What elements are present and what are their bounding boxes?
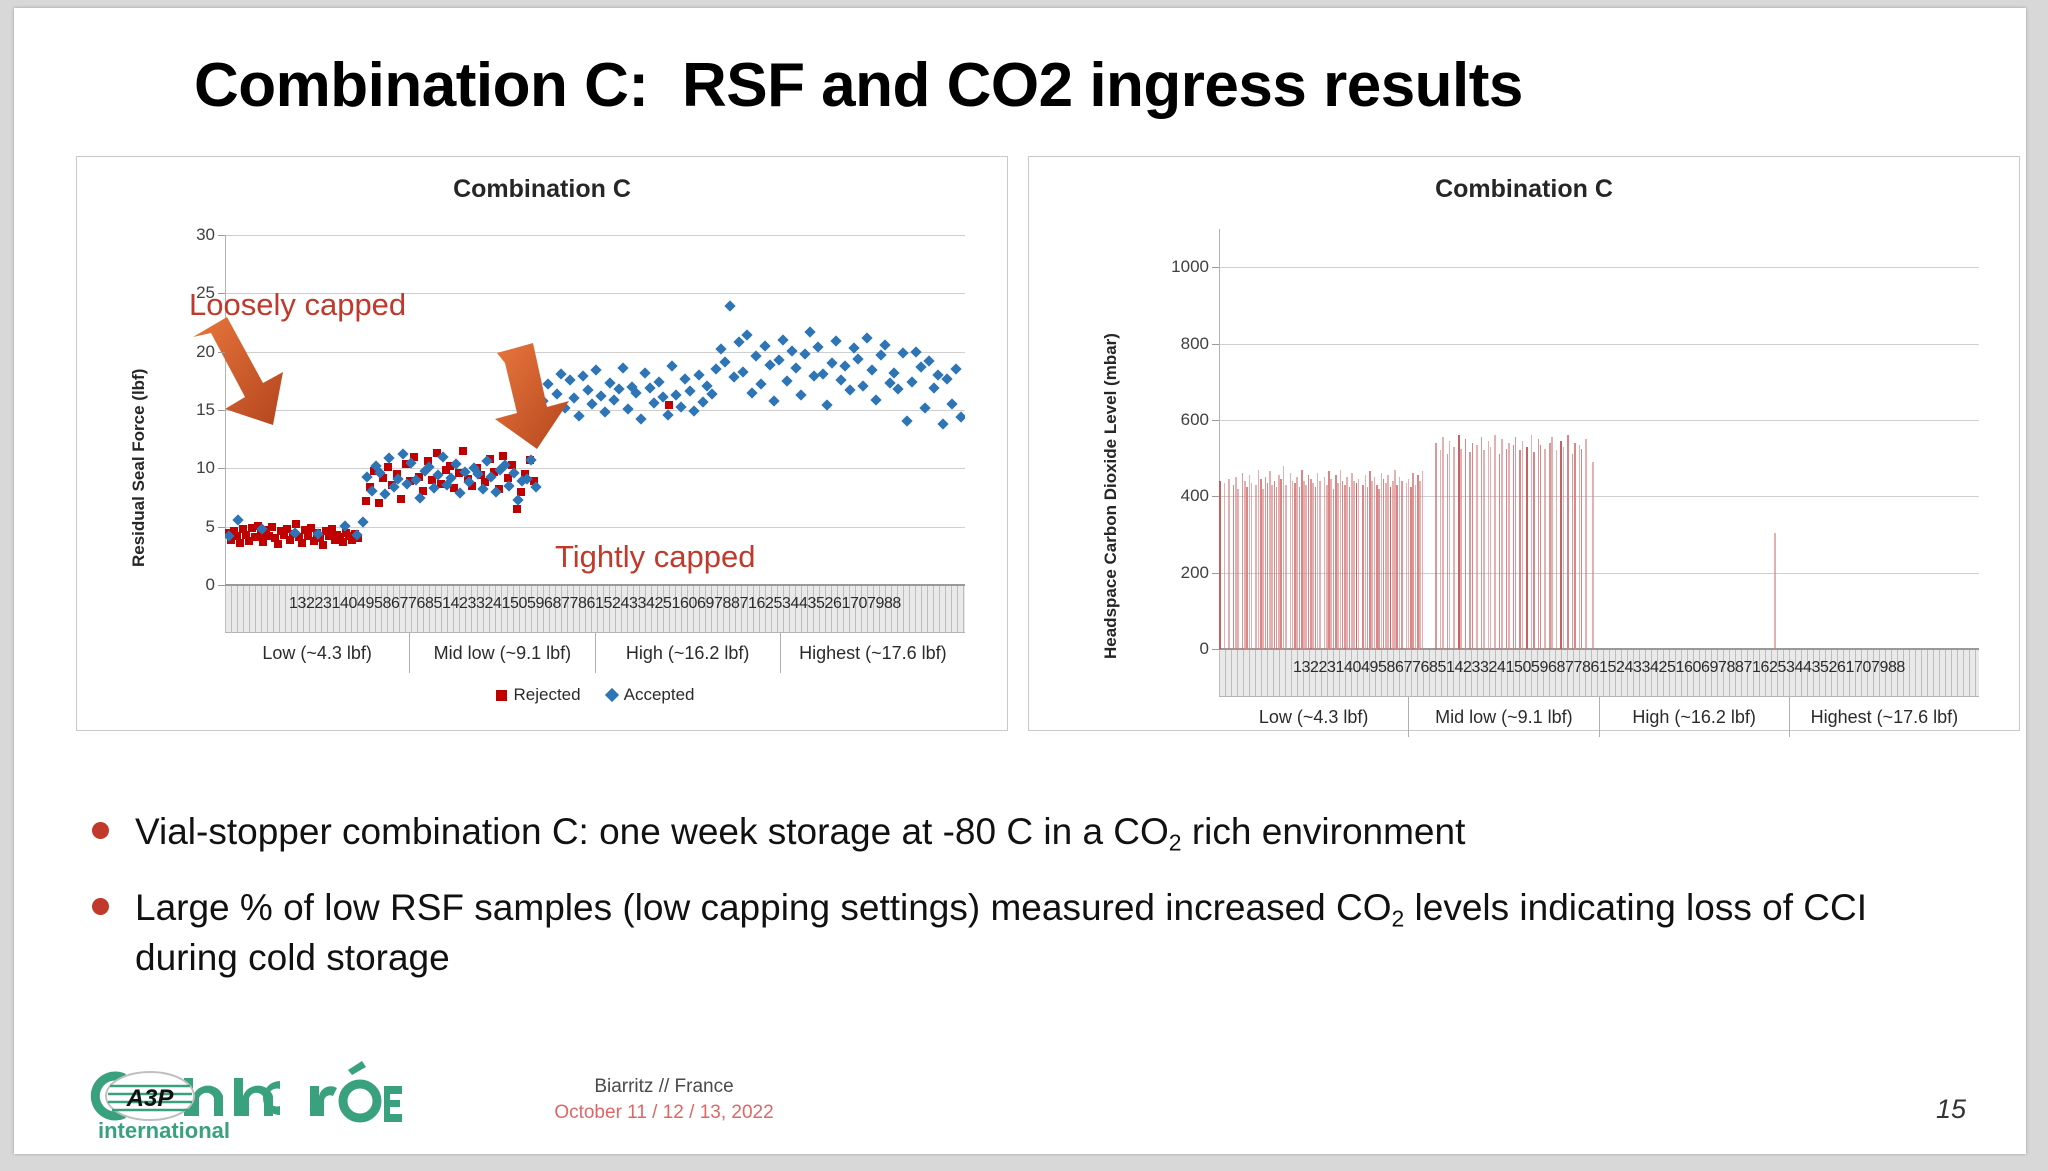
scatter-point-rejected (375, 499, 383, 507)
scatter-point-accepted (591, 365, 602, 376)
co2-bar (1285, 485, 1287, 649)
scatter-point-accepted (839, 360, 850, 371)
co2-plot-area (1219, 229, 1979, 649)
scatter-point-accepted (777, 334, 788, 345)
tightly-capped-annotation: Tightly capped (555, 539, 755, 575)
scatter-point-accepted (542, 379, 553, 390)
left-category-1: Low (~4.3 lbf) (225, 633, 410, 673)
right-ytick-mark (1212, 573, 1219, 574)
scatter-point-rejected (513, 505, 521, 513)
scatter-point-accepted (720, 356, 731, 367)
scatter-point-accepted (564, 374, 575, 385)
right-category-3: High (~16.2 lbf) (1600, 697, 1790, 737)
scatter-point-accepted (910, 346, 921, 357)
left-chart-ylabel: Residual Seal Force (lbf) (129, 369, 149, 567)
right-ytick-label: 1000 (1147, 257, 1209, 277)
scatter-point-accepted (397, 449, 408, 460)
scatter-point-accepted (871, 394, 882, 405)
scatter-point-accepted (569, 393, 580, 404)
co2-bar (1526, 447, 1528, 649)
scatter-point-accepted (715, 344, 726, 355)
bullet-list: Vial-stopper combination C: one week sto… (92, 808, 1922, 1009)
accepted-marker-icon (605, 688, 619, 702)
page-number: 15 (1936, 1094, 1966, 1125)
co2-bar (1581, 449, 1583, 649)
scatter-point-accepted (862, 332, 873, 343)
scatter-point-accepted (835, 374, 846, 385)
scatter-point-accepted (817, 368, 828, 379)
scatter-point-accepted (379, 488, 390, 499)
scatter-point-accepted (649, 397, 660, 408)
right-chart-title: Combination C (1029, 175, 2019, 204)
scatter-point-rejected (459, 447, 467, 455)
scatter-point-accepted (786, 345, 797, 356)
bullet-text: Large % of low RSF samples (low capping … (135, 884, 1922, 982)
co2-bar (1401, 481, 1403, 649)
right-ytick-mark (1212, 649, 1219, 650)
scatter-point-accepted (919, 402, 930, 413)
co2-bar (1453, 447, 1455, 649)
scatter-point-accepted (697, 396, 708, 407)
co2-bar (1567, 435, 1569, 649)
co2-bar (1319, 481, 1321, 649)
right-xaxis-categories: Low (~4.3 lbf)Mid low (~9.1 lbf)High (~1… (1219, 697, 1979, 737)
bullet-text: Vial-stopper combination C: one week sto… (135, 808, 1465, 858)
co2-bar (1544, 449, 1546, 649)
scatter-point-accepted (635, 414, 646, 425)
text-run: Vial-stopper combination C: one week sto… (135, 811, 1169, 852)
scatter-point-accepted (893, 383, 904, 394)
scatter-point-accepted (760, 340, 771, 351)
co2-bar (1442, 437, 1444, 649)
congres-international-logo: A3P international (66, 1056, 426, 1144)
right-ytick-mark (1212, 420, 1219, 421)
scatter-point-accepted (671, 389, 682, 400)
right-ytick-label: 600 (1147, 410, 1209, 430)
scatter-point-accepted (644, 382, 655, 393)
bullet-item-2: Large % of low RSF samples (low capping … (92, 884, 1922, 982)
subscript-text: 2 (1392, 906, 1405, 932)
co2-bar (1508, 443, 1510, 649)
scatter-point-rejected (665, 401, 673, 409)
scatter-point-accepted (866, 365, 877, 376)
scatter-point-accepted (684, 386, 695, 397)
scatter-point-accepted (233, 514, 244, 525)
scatter-point-rejected (362, 497, 370, 505)
co2-bar (1551, 437, 1553, 649)
scatter-point-accepted (560, 402, 571, 413)
right-xaxis-tick-numbers: 1322314049586776851423324150596877861524… (1219, 659, 1979, 677)
scatter-point-accepted (577, 370, 588, 381)
scatter-point-accepted (640, 367, 651, 378)
right-ytick-label: 400 (1147, 486, 1209, 506)
gridline (1219, 420, 1979, 421)
co2-bar (1435, 443, 1437, 649)
co2-bar (1533, 452, 1535, 649)
scatter-point-accepted (857, 380, 868, 391)
left-ytick-mark (218, 527, 225, 528)
scatter-point-accepted (937, 418, 948, 429)
co2-bar (1224, 483, 1226, 649)
co2-bar (1228, 479, 1230, 649)
co2-bar (1490, 447, 1492, 649)
left-xaxis-categories: Low (~4.3 lbf)Mid low (~9.1 lbf)High (~1… (225, 633, 965, 673)
legend-label: Accepted (624, 685, 695, 705)
left-chart-title: Combination C (77, 175, 1007, 204)
co2-bar (1219, 481, 1221, 649)
left-ytick-label: 30 (167, 225, 215, 245)
co2-bar (1515, 437, 1517, 649)
scatter-point-accepted (600, 407, 611, 418)
left-ytick-label: 15 (167, 400, 215, 420)
right-ytick-mark (1212, 496, 1219, 497)
right-category-1: Low (~4.3 lbf) (1219, 697, 1409, 737)
scatter-point-accepted (724, 300, 735, 311)
footer-date: October 11 / 12 / 13, 2022 (514, 1102, 814, 1124)
co2-bar (1585, 439, 1587, 649)
scatter-point-rejected (274, 540, 282, 548)
bullet-item-1: Vial-stopper combination C: one week sto… (92, 808, 1922, 858)
co2-bar (1449, 441, 1451, 649)
co2-bar (1422, 471, 1424, 649)
scatter-point-accepted (795, 389, 806, 400)
left-ytick-label: 5 (167, 517, 215, 537)
scatter-point-rejected (319, 541, 327, 549)
scatter-point-accepted (617, 362, 628, 373)
left-ytick-mark (218, 468, 225, 469)
left-ytick-mark (218, 293, 225, 294)
right-category-2: Mid low (~9.1 lbf) (1409, 697, 1599, 737)
scatter-point-accepted (622, 403, 633, 414)
left-ytick-label: 10 (167, 458, 215, 478)
scatter-point-accepted (733, 337, 744, 348)
scatter-point-accepted (653, 376, 664, 387)
co2-bar (1774, 533, 1776, 649)
scatter-point-accepted (551, 388, 562, 399)
scatter-point-accepted (804, 326, 815, 337)
scatter-point-accepted (844, 384, 855, 395)
gridline (225, 527, 965, 528)
scatter-point-accepted (768, 395, 779, 406)
co2-bar (1472, 443, 1474, 649)
scatter-point-accepted (582, 384, 593, 395)
right-ytick-label: 200 (1147, 563, 1209, 583)
scatter-point-accepted (384, 452, 395, 463)
co2-bar (1358, 479, 1360, 649)
scatter-point-accepted (586, 398, 597, 409)
co2-bar (1592, 462, 1594, 649)
scatter-point-accepted (826, 358, 837, 369)
scatter-point-accepted (573, 410, 584, 421)
left-ytick-mark (218, 410, 225, 411)
scatter-point-rejected (268, 523, 276, 531)
left-category-3: High (~16.2 lbf) (596, 633, 781, 673)
co2-bar (1494, 435, 1496, 649)
slide: Combination C: RSF and CO2 ingress resul… (14, 8, 2026, 1154)
right-ytick-mark (1212, 344, 1219, 345)
right-ytick-mark (1212, 267, 1219, 268)
gridline (225, 410, 965, 411)
rsf-chart-panel: Combination C Residual Seal Force (lbf) … (76, 156, 1008, 731)
scatter-point-accepted (902, 415, 913, 426)
rsf-chart-legend: RejectedAccepted (225, 685, 965, 705)
left-category-2: Mid low (~9.1 lbf) (410, 633, 595, 673)
scatter-point-accepted (799, 348, 810, 359)
subscript-text: 2 (1169, 829, 1182, 855)
right-ytick-label: 0 (1147, 639, 1209, 659)
gridline (1219, 267, 1979, 268)
scatter-point-accepted (609, 394, 620, 405)
left-ytick-label: 0 (167, 575, 215, 595)
co2-bar (1251, 483, 1253, 649)
scatter-point-accepted (613, 383, 624, 394)
gridline (225, 468, 965, 469)
a3p-badge-text: A3P (126, 1085, 175, 1112)
co2-bar (1556, 450, 1558, 649)
legend-label: Rejected (514, 685, 581, 705)
left-xaxis-tick-numbers: 1322314049586776851423324150596877861524… (225, 595, 965, 613)
co2-bar (1501, 439, 1503, 649)
scatter-point-accepted (693, 369, 704, 380)
left-ytick-mark (218, 235, 225, 236)
rejected-marker-icon (496, 690, 507, 701)
scatter-point-accepted (666, 360, 677, 371)
scatter-point-rejected (236, 539, 244, 547)
right-ytick-label: 800 (1147, 334, 1209, 354)
scatter-point-accepted (782, 375, 793, 386)
left-category-4: Highest (~17.6 lbf) (781, 633, 965, 673)
scatter-point-accepted (680, 373, 691, 384)
scatter-point-rejected (397, 495, 405, 503)
scatter-point-accepted (595, 390, 606, 401)
co2-bar (1522, 441, 1524, 649)
scatter-point-accepted (538, 395, 549, 406)
scatter-point-accepted (955, 411, 965, 422)
scatter-point-accepted (946, 398, 957, 409)
text-run: rich environment (1182, 811, 1466, 852)
logo-subtitle-text: international (98, 1118, 230, 1143)
legend-item-accepted[interactable]: Accepted (607, 685, 695, 705)
left-ytick-mark (218, 352, 225, 353)
right-chart-ylabel: Headspace Carbon Dioxide Level (mbar) (1101, 333, 1121, 659)
gridline (225, 235, 965, 236)
co2-bar (1540, 445, 1542, 649)
scatter-point-accepted (546, 405, 557, 416)
scatter-point-accepted (897, 347, 908, 358)
scatter-point-accepted (688, 405, 699, 416)
bullet-dot-icon (92, 898, 109, 915)
scatter-point-accepted (746, 387, 757, 398)
left-ytick-label: 20 (167, 342, 215, 362)
scatter-point-accepted (755, 379, 766, 390)
scatter-point-accepted (791, 362, 802, 373)
bullet-dot-icon (92, 822, 109, 839)
co2-chart-panel: Combination C Headspace Carbon Dioxide L… (1028, 156, 2020, 731)
scatter-point-accepted (742, 330, 753, 341)
scatter-point-accepted (512, 494, 523, 505)
legend-item-rejected[interactable]: Rejected (496, 685, 581, 705)
right-category-4: Highest (~17.6 lbf) (1790, 697, 1979, 737)
scatter-point-rejected (384, 463, 392, 471)
scatter-point-accepted (950, 363, 961, 374)
scatter-point-rejected (298, 539, 306, 547)
left-ytick-mark (218, 585, 225, 586)
co2-bar (1465, 439, 1467, 649)
footer-location: Biarritz // France (514, 1076, 814, 1098)
scatter-point-accepted (853, 353, 864, 364)
co2-bar (1476, 445, 1478, 649)
left-ytick-label: 25 (167, 283, 215, 303)
gridline (1219, 344, 1979, 345)
co2-bar (1563, 447, 1565, 649)
co2-bar (1460, 449, 1462, 649)
scatter-point-rejected (499, 452, 507, 460)
scatter-point-accepted (906, 376, 917, 387)
co2-bar (1483, 450, 1485, 649)
co2-bar (1237, 489, 1239, 649)
scatter-point-accepted (831, 335, 842, 346)
scatter-point-accepted (711, 363, 722, 374)
scatter-point-accepted (928, 382, 939, 393)
page-title: Combination C: RSF and CO2 ingress resul… (194, 50, 1894, 121)
scatter-point-accepted (503, 480, 514, 491)
co2-bar (1574, 443, 1576, 649)
text-run: Large % of low RSF samples (low capping … (135, 887, 1392, 928)
